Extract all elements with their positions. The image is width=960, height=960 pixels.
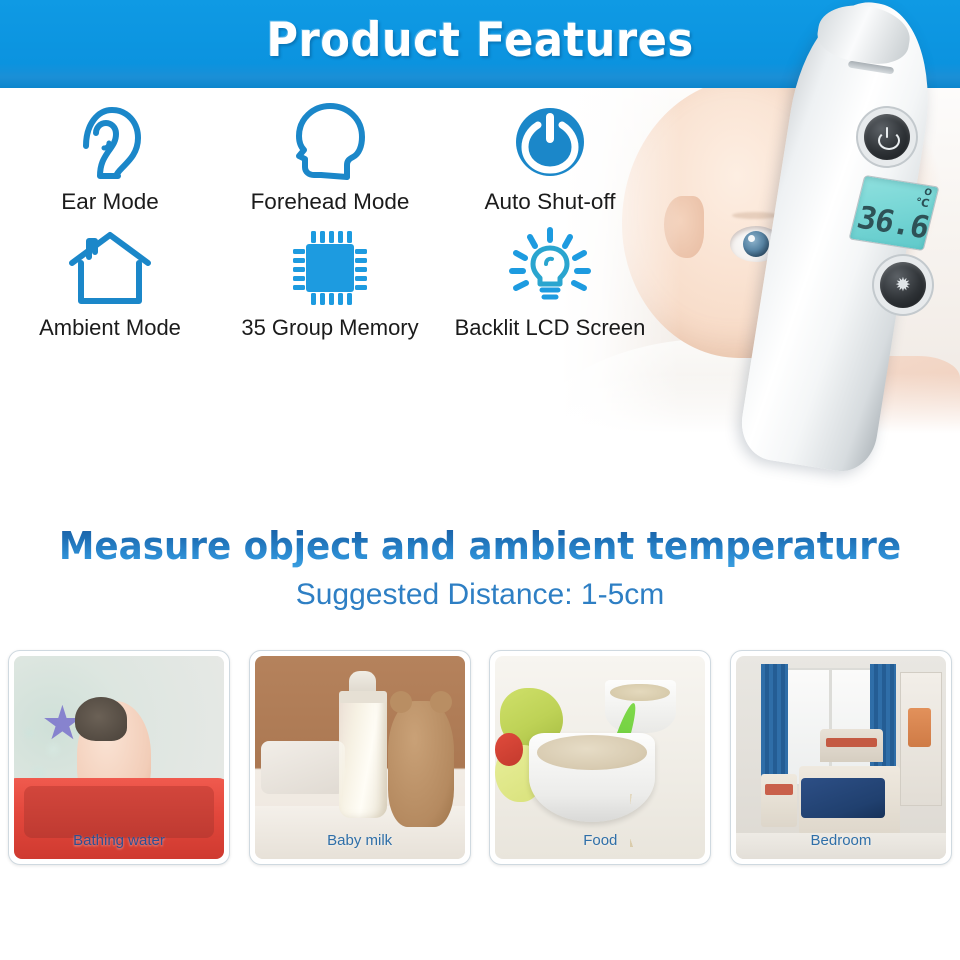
scene-image: Food [495,656,705,859]
lcd-temperature-value: 36.6 [854,203,931,244]
product-features-page: Product Features O °C [0,0,960,960]
baby-brow-left [732,212,778,219]
feature-label: Forehead Mode [251,188,410,216]
scene-caption: Bedroom [736,831,946,851]
feature-ambient-mode: Ambient Mode [0,222,220,342]
feature-row-1: Ear Mode Forehead Mode [0,96,660,216]
headline-sub: Suggested Distance: 1-5cm [0,574,960,616]
scene-image: Baby milk [255,656,465,859]
feature-label: Auto Shut-off [485,188,616,216]
lightbulb-icon [508,222,592,314]
scene-baby-milk[interactable]: Baby milk [249,650,471,865]
feature-grid: Ear Mode Forehead Mode [0,96,660,348]
scene-image: Bedroom [736,656,946,859]
headline-section: Measure object and ambient temperature S… [0,520,960,616]
scene-bedroom[interactable]: Bedroom [730,650,952,865]
feature-group-memory: 35 Group Memory [220,222,440,342]
scene-caption: Bathing water [14,831,224,851]
device-power-button[interactable] [864,114,910,160]
infrared-thermometer: O °C 36.6 ✹ [782,2,960,472]
feature-backlit-lcd: Backlit LCD Screen [440,222,660,342]
feature-label: 35 Group Memory [241,314,418,342]
feature-label: Backlit LCD Screen [455,314,646,342]
scene-caption: Baby milk [255,831,465,851]
power-icon [511,96,589,188]
head-profile-icon [291,96,369,188]
feature-label: Ambient Mode [39,314,181,342]
ear-icon [74,96,146,188]
device-scan-button[interactable]: ✹ [880,262,926,308]
scene-thumbnail-row: Bathing water Baby milk [8,650,952,865]
feature-auto-shutoff: Auto Shut-off [440,96,660,216]
feature-row-2: Ambient Mode [0,222,660,342]
power-icon [877,127,897,147]
house-icon [67,222,153,314]
feature-ear-mode: Ear Mode [0,96,220,216]
device-lcd-screen: O °C 36.6 [848,175,939,251]
scene-caption: Food [495,831,705,851]
scan-icon: ✹ [895,276,911,295]
chip-icon [289,222,371,314]
lcd-unit-label: O °C [914,188,932,210]
feature-label: Ear Mode [61,188,159,216]
scene-bathing-water[interactable]: Bathing water [8,650,230,865]
scene-image: Bathing water [14,656,224,859]
scene-food[interactable]: Food [489,650,711,865]
feature-forehead-mode: Forehead Mode [220,96,440,216]
headline-main: Measure object and ambient temperature [29,520,931,572]
